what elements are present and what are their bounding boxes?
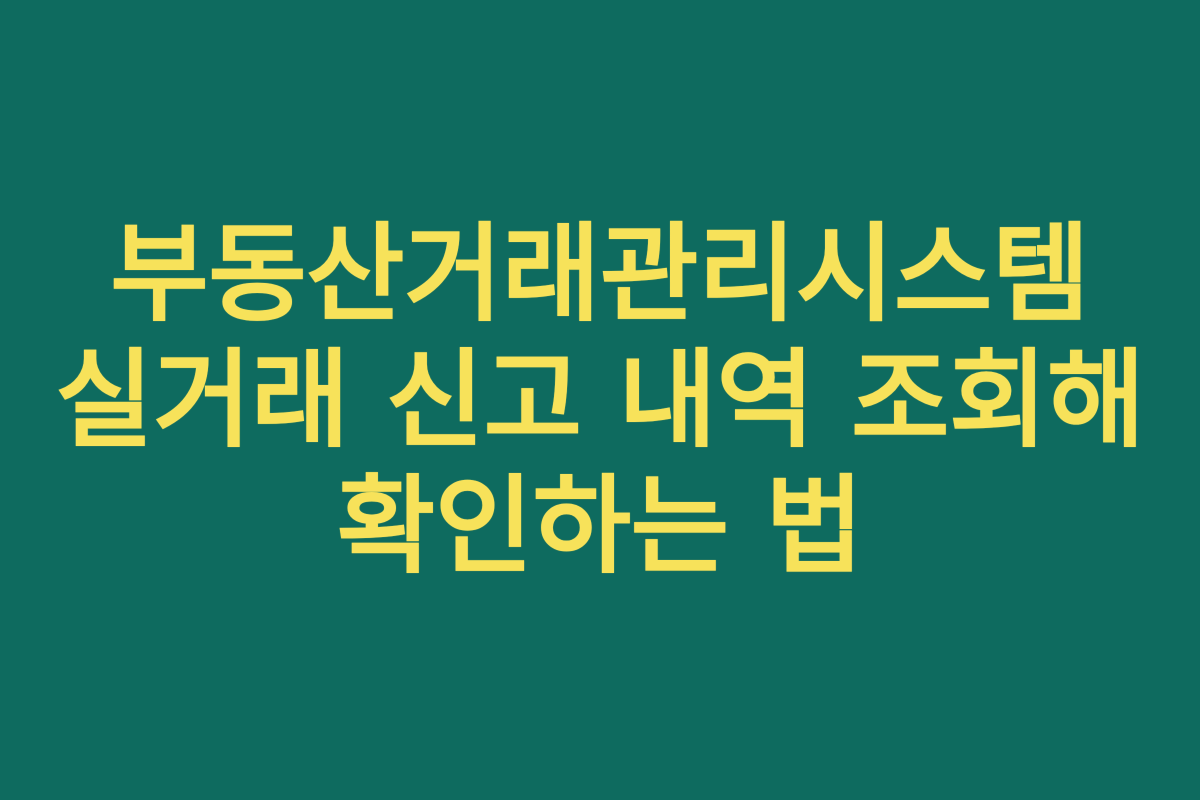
banner-canvas: 부동산거래관리시스템 실거래 신고 내역 조회해 확인하는 법 xyxy=(0,0,1200,800)
title-line-1: 부동산거래관리시스템 xyxy=(0,212,1200,338)
title-line-3: 확인하는 법 xyxy=(0,464,1200,590)
title-line-2: 실거래 신고 내역 조회해 xyxy=(0,338,1200,464)
title-block: 부동산거래관리시스템 실거래 신고 내역 조회해 확인하는 법 xyxy=(0,0,1200,590)
